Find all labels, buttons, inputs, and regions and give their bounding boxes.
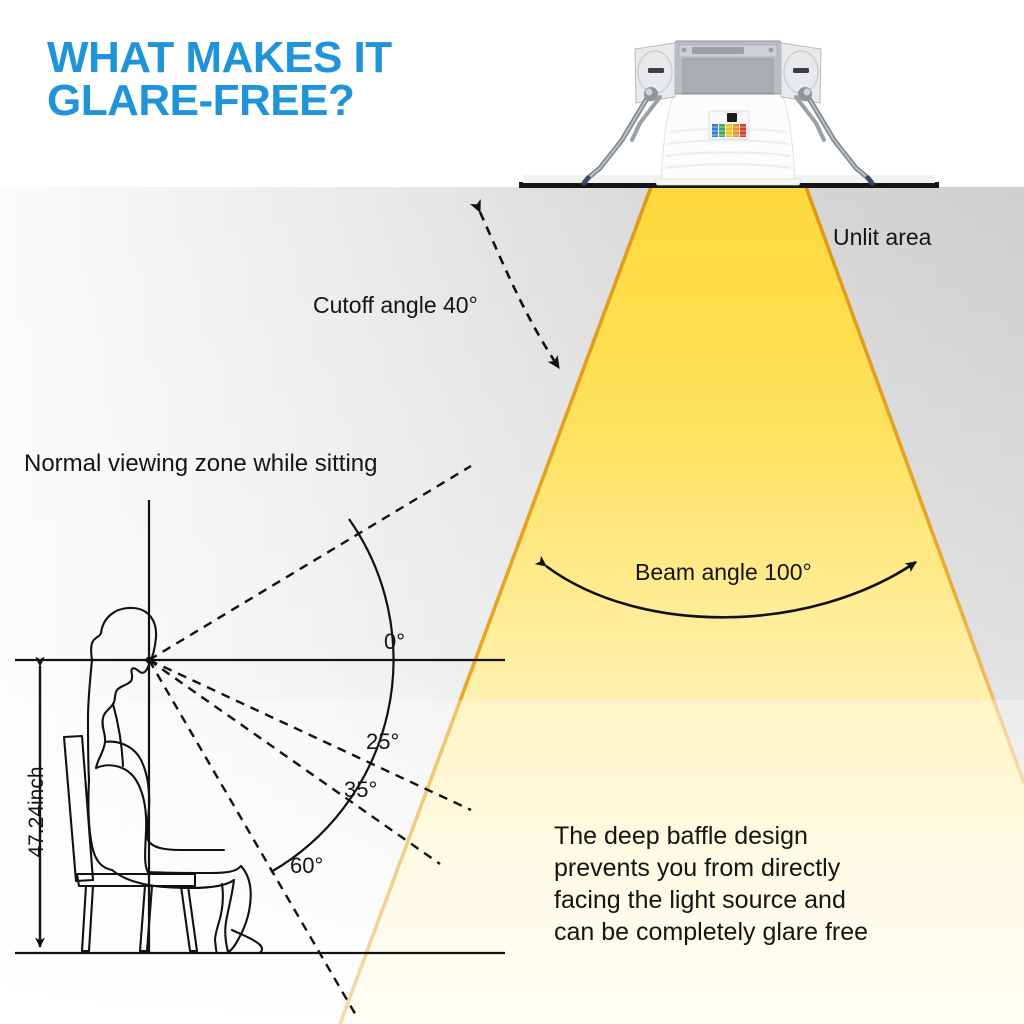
beam-angle-label: Beam angle 100° <box>635 559 812 586</box>
unlit-area-label: Unlit area <box>833 224 931 251</box>
infographic-canvas: WHAT MAKES IT GLARE-FREE? Cutoff angle 4… <box>0 0 1024 1024</box>
angle-tick-0: 0° <box>384 629 405 655</box>
angle-tick-35: 35° <box>344 777 377 803</box>
cct-selector-label <box>709 111 749 139</box>
page-title: WHAT MAKES IT GLARE-FREE? <box>47 36 477 122</box>
eye-point <box>146 657 153 664</box>
angle-tick-60: 60° <box>290 853 323 879</box>
viewing-zone-label: Normal viewing zone while sitting <box>24 450 377 478</box>
cutoff-angle-label: Cutoff angle 40° <box>313 292 478 319</box>
sitting-height-label: 47.24inch <box>25 752 49 872</box>
description-paragraph: The deep baffle design prevents you from… <box>554 820 954 948</box>
angle-tick-25: 25° <box>366 729 399 755</box>
